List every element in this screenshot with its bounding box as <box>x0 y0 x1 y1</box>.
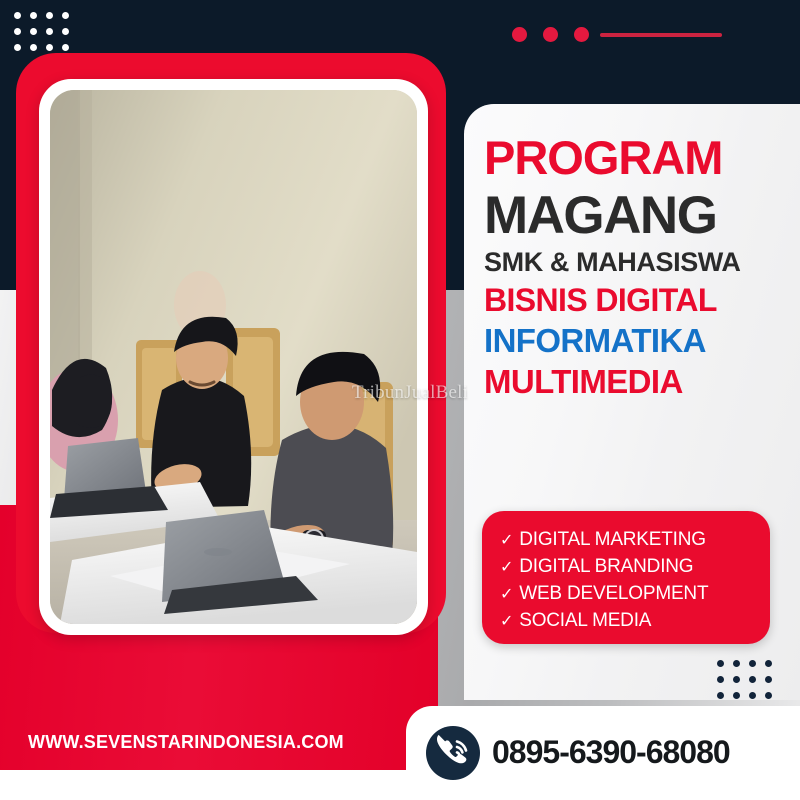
dot <box>749 660 756 667</box>
service-label: DIGITAL BRANDING <box>519 554 693 581</box>
dot <box>733 676 740 683</box>
dot <box>30 12 37 19</box>
headline-multimedia: MULTIMEDIA <box>484 365 784 398</box>
circle <box>512 27 527 42</box>
dot <box>30 44 37 51</box>
phone-number[interactable]: 0895-6390-68080 <box>492 734 730 771</box>
service-label: WEB DEVELOPMENT <box>519 581 708 608</box>
service-label: SOCIAL MEDIA <box>519 608 651 635</box>
watermark: TribunJualBeli <box>352 382 468 404</box>
dot <box>733 660 740 667</box>
dot <box>717 692 724 699</box>
headline-bisnis-digital: BISNIS DIGITAL <box>484 284 784 316</box>
phone-call-icon <box>426 726 480 780</box>
promotional-poster: TribunJualBeli PROGRAM MAGANG SMK & MAHA… <box>0 0 800 800</box>
service-label: DIGITAL MARKETING <box>519 527 706 554</box>
dot <box>46 44 53 51</box>
services-list: ✓ DIGITAL MARKETING ✓ DIGITAL BRANDING ✓… <box>482 511 770 644</box>
dot <box>46 28 53 35</box>
check-icon: ✓ <box>500 584 513 607</box>
dot <box>765 676 772 683</box>
dot <box>717 676 724 683</box>
dot <box>62 28 69 35</box>
dot <box>765 692 772 699</box>
dot <box>14 28 21 35</box>
list-item: ✓ WEB DEVELOPMENT <box>500 581 770 608</box>
list-item: ✓ DIGITAL MARKETING <box>500 527 770 554</box>
circle <box>543 27 558 42</box>
dot <box>749 692 756 699</box>
dot <box>46 12 53 19</box>
check-icon: ✓ <box>500 530 513 553</box>
check-icon: ✓ <box>500 611 513 634</box>
list-item: ✓ SOCIAL MEDIA <box>500 608 770 635</box>
check-icon: ✓ <box>500 557 513 580</box>
dot <box>733 692 740 699</box>
dot <box>717 660 724 667</box>
headline-block: PROGRAM MAGANG SMK & MAHASISWA BISNIS DI… <box>484 134 784 398</box>
headline-smk-mahasiswa: SMK & MAHASISWA <box>484 249 784 276</box>
headline-informatika: INFORMATIKA <box>484 324 784 357</box>
students-photo <box>50 90 417 624</box>
dot <box>14 44 21 51</box>
dot <box>14 12 21 19</box>
phone-contact-panel: 0895-6390-68080 <box>406 706 800 800</box>
website-url[interactable]: WWW.SEVENSTARINDONESIA.COM <box>28 732 344 753</box>
dot <box>749 676 756 683</box>
dot <box>62 12 69 19</box>
red-divider-line <box>600 33 722 37</box>
red-circles-icon <box>512 27 589 42</box>
list-item: ✓ DIGITAL BRANDING <box>500 554 770 581</box>
dot-grid-icon <box>14 12 69 51</box>
circle <box>574 27 589 42</box>
headline-program: PROGRAM <box>484 134 784 181</box>
dot-grid-icon <box>717 660 772 699</box>
dot <box>30 28 37 35</box>
headline-magang: MAGANG <box>484 189 784 242</box>
dot <box>765 660 772 667</box>
dot <box>62 44 69 51</box>
